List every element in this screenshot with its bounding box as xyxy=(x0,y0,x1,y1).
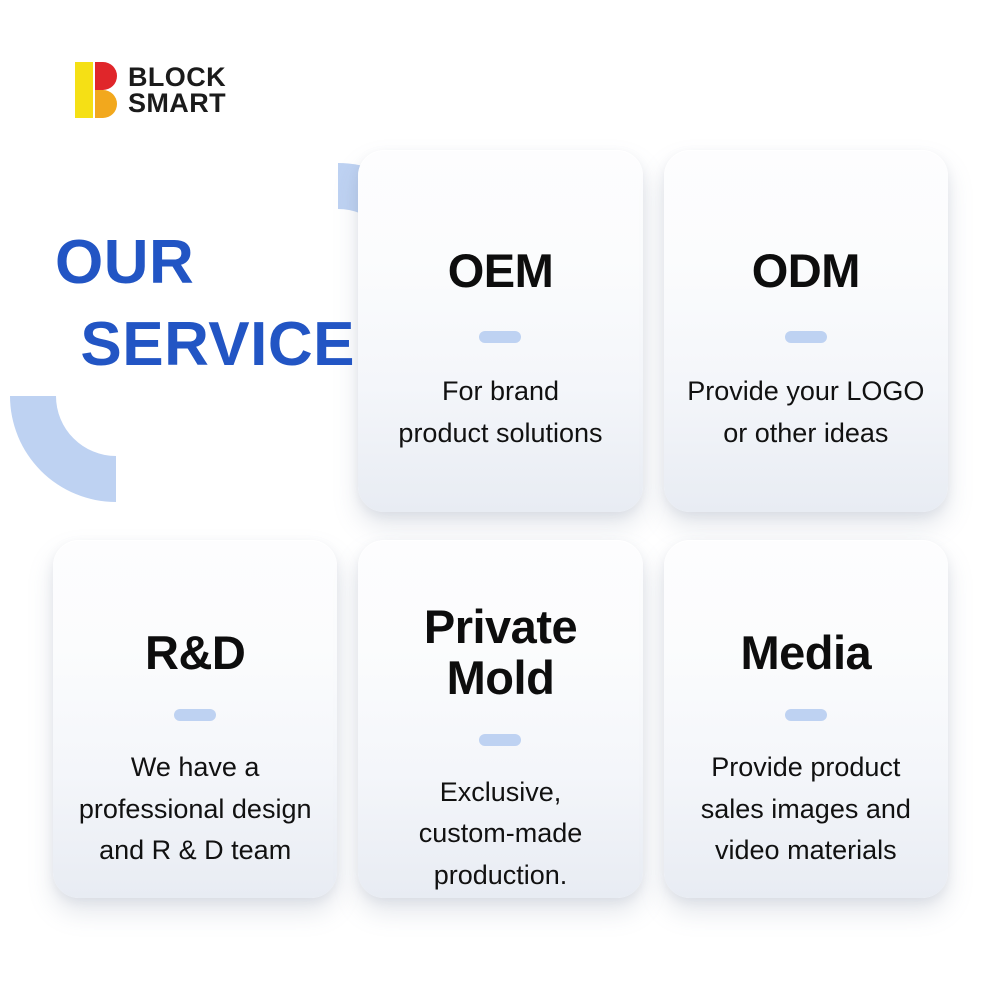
service-card-oem[interactable]: OEM For brand product solutions xyxy=(358,150,642,512)
card-divider xyxy=(785,709,827,721)
card-body-line: production. xyxy=(419,855,583,897)
card-body-line: We have a xyxy=(79,747,312,789)
brand-name-line-2: SMART xyxy=(128,90,226,116)
card-body: For brand product solutions xyxy=(398,371,602,455)
service-card-private-mold[interactable]: Private Mold Exclusive, custom-made prod… xyxy=(358,540,642,898)
card-divider xyxy=(174,709,216,721)
service-card-media[interactable]: Media Provide product sales images and v… xyxy=(664,540,948,898)
page-title-line-1: OUR xyxy=(55,222,355,304)
card-title: ODM xyxy=(752,246,860,297)
card-body-line: and R & D team xyxy=(79,830,312,872)
card-body-line: or other ideas xyxy=(687,413,924,455)
card-body-line: custom-made xyxy=(419,813,583,855)
service-card-rnd[interactable]: R&D We have a professional design and R … xyxy=(53,540,337,898)
card-body: Provide your LOGO or other ideas xyxy=(687,371,924,455)
card-divider xyxy=(479,331,521,343)
card-title: OEM xyxy=(448,246,554,297)
card-body-line: product solutions xyxy=(398,413,602,455)
card-divider xyxy=(785,331,827,343)
page-title: OUR SERVICE xyxy=(55,222,355,386)
brand-name-line-1: BLOCK xyxy=(128,64,226,90)
service-poster: BLOCK SMART OUR SERVICE OEM For brand pr… xyxy=(0,0,1000,1000)
card-body: We have a professional design and R & D … xyxy=(79,747,312,873)
logo-bowl-bottom-shape xyxy=(95,90,117,118)
card-body-line: Exclusive, xyxy=(419,772,583,814)
card-body-line: Provide product xyxy=(701,747,911,789)
logo-bowl-top-shape xyxy=(95,62,117,90)
card-body-line: For brand xyxy=(398,371,602,413)
card-body-line: sales images and xyxy=(701,789,911,831)
card-body-line: video materials xyxy=(701,830,911,872)
card-title: Private Mold xyxy=(424,602,577,704)
block-smart-b-monogram-icon xyxy=(75,62,117,118)
card-divider xyxy=(479,734,521,746)
logo-bar-shape xyxy=(75,62,93,118)
card-body-line: professional design xyxy=(79,789,312,831)
card-title-line: Private xyxy=(424,602,577,653)
card-body: Provide product sales images and video m… xyxy=(701,747,911,873)
card-title-line: Mold xyxy=(424,653,577,704)
card-title: Media xyxy=(740,628,871,679)
card-title: R&D xyxy=(145,628,245,679)
brand-logo[interactable]: BLOCK SMART xyxy=(75,62,226,118)
service-card-odm[interactable]: ODM Provide your LOGO or other ideas xyxy=(664,150,948,512)
page-title-line-2: SERVICE xyxy=(55,304,355,386)
brand-wordmark: BLOCK SMART xyxy=(128,64,226,117)
card-body: Exclusive, custom-made production. xyxy=(419,772,583,898)
card-body-line: Provide your LOGO xyxy=(687,371,924,413)
